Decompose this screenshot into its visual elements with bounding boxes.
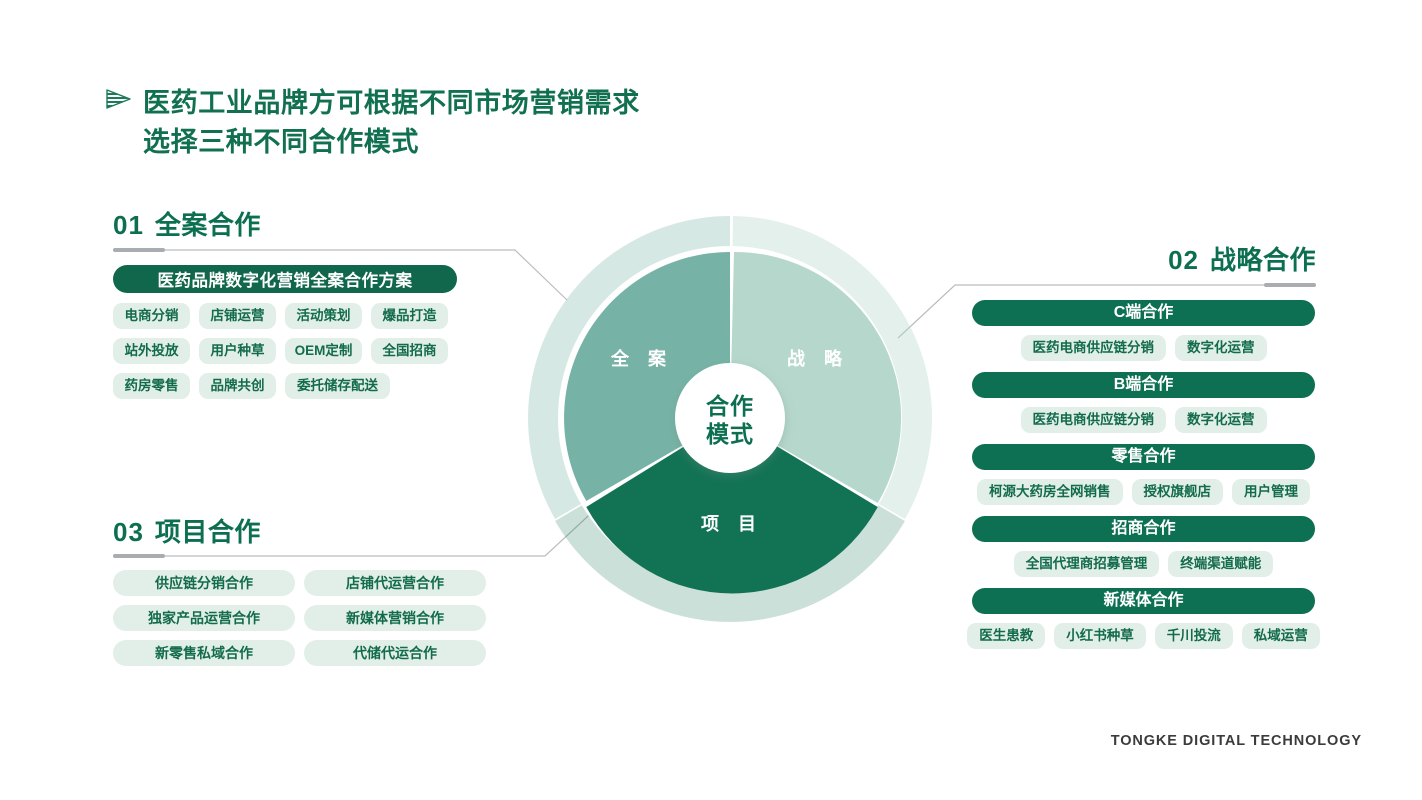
tag-row: 供应链分销合作 店铺代运营合作 (113, 570, 486, 596)
tag-row: 全国代理商招募管理 终端渠道赋能 (972, 551, 1315, 577)
tag-row: 医药电商供应链分销 数字化运营 (972, 407, 1315, 433)
section-01-content: 医药品牌数字化营销全案合作方案 电商分销 店铺运营 活动策划 爆品打造 站外投放… (113, 265, 457, 408)
section-01-title: 全案合作 (155, 205, 261, 242)
tag-pill[interactable]: 新媒体营销合作 (304, 605, 486, 631)
group-bar[interactable]: 零售合作 (972, 444, 1315, 470)
slide-title: 医药工业品牌方可根据不同市场营销需求选择三种不同合作模式 (106, 84, 640, 162)
group-bar[interactable]: 招商合作 (972, 516, 1315, 542)
group-bar[interactable]: C端合作 (972, 300, 1315, 326)
section-03-number: 03 (113, 517, 144, 548)
section-02-number: 02 (1168, 245, 1199, 276)
section-02-title: 战略合作 (1210, 240, 1316, 277)
section-header-03: 03 项目合作 (113, 512, 261, 549)
tag-pill[interactable]: 电商分销 (113, 303, 190, 329)
tag-pill[interactable]: 数字化运营 (1175, 335, 1267, 361)
triangle-arrow-icon (106, 89, 132, 114)
slide-canvas: 医药工业品牌方可根据不同市场营销需求选择三种不同合作模式 01 全案合作 03 … (0, 0, 1422, 800)
tag-pill[interactable]: 授权旗舰店 (1132, 479, 1224, 505)
tag-pill[interactable]: 店铺运营 (199, 303, 276, 329)
tag-pill[interactable]: 医药电商供应链分销 (1021, 335, 1167, 361)
tag-row: 医药电商供应链分销 数字化运营 (972, 335, 1315, 361)
tag-pill[interactable]: 私域运营 (1242, 623, 1320, 649)
tag-pill[interactable]: 全国代理商招募管理 (1014, 551, 1160, 577)
tag-pill[interactable]: 医药电商供应链分销 (1021, 407, 1167, 433)
tag-pill[interactable]: 数字化运营 (1175, 407, 1267, 433)
segment-label-full-case: 全 案 (610, 348, 673, 369)
group-bar[interactable]: 新媒体合作 (972, 588, 1315, 614)
tag-pill[interactable]: 站外投放 (113, 338, 190, 364)
segment-label-strategy: 战 略 (787, 348, 849, 369)
tag-pill[interactable]: 独家产品运营合作 (113, 605, 295, 631)
title-line-2: 选择三种不同合作模式 (143, 127, 419, 157)
cooperation-model-donut-chart: 全 案 战 略 项 目 合作 模式 (520, 208, 940, 633)
tag-pill[interactable]: 小红书种草 (1054, 623, 1146, 649)
tag-row: 药房零售 品牌共创 委托储存配送 (113, 373, 457, 399)
tag-pill[interactable]: 千川投流 (1155, 623, 1233, 649)
tag-row: 电商分销 店铺运营 活动策划 爆品打造 (113, 303, 457, 329)
tag-pill[interactable]: 代储代运合作 (304, 640, 486, 666)
tag-pill[interactable]: 全国招商 (371, 338, 448, 364)
section-03-title: 项目合作 (155, 512, 261, 549)
tag-pill[interactable]: 委托储存配送 (285, 373, 390, 399)
strategy-group: 新媒体合作 医生患教 小红书种草 千川投流 私域运营 (972, 588, 1315, 649)
tag-pill[interactable]: 药房零售 (113, 373, 190, 399)
tag-pill[interactable]: 店铺代运营合作 (304, 570, 486, 596)
tag-pill[interactable]: 爆品打造 (371, 303, 448, 329)
section-01-number: 01 (113, 210, 144, 241)
strategy-group: 招商合作 全国代理商招募管理 终端渠道赋能 (972, 516, 1315, 577)
tag-pill[interactable]: OEM定制 (285, 338, 362, 364)
tag-pill[interactable]: 柯源大药房全网销售 (977, 479, 1123, 505)
hub-label-line-2: 模式 (706, 421, 754, 447)
tag-row: 新零售私域合作 代储代运合作 (113, 640, 486, 666)
strategy-group: B端合作 医药电商供应链分销 数字化运营 (972, 372, 1315, 433)
group-bar[interactable]: B端合作 (972, 372, 1315, 398)
tag-row: 柯源大药房全网销售 授权旗舰店 用户管理 (972, 479, 1315, 505)
section-01-rule (113, 248, 165, 252)
section-header-02: 02 战略合作 (1168, 240, 1316, 277)
tag-row: 站外投放 用户种草 OEM定制 全国招商 (113, 338, 457, 364)
title-text: 医药工业品牌方可根据不同市场营销需求选择三种不同合作模式 (143, 84, 640, 162)
tag-row: 独家产品运营合作 新媒体营销合作 (113, 605, 486, 631)
tag-pill[interactable]: 用户种草 (199, 338, 276, 364)
section-01-banner[interactable]: 医药品牌数字化营销全案合作方案 (113, 265, 457, 293)
title-line-1: 医药工业品牌方可根据不同市场营销需求 (143, 88, 640, 118)
tag-pill[interactable]: 供应链分销合作 (113, 570, 295, 596)
tag-pill[interactable]: 新零售私域合作 (113, 640, 295, 666)
segment-label-project: 项 目 (701, 514, 763, 534)
strategy-group: 零售合作 柯源大药房全网销售 授权旗舰店 用户管理 (972, 444, 1315, 505)
section-02-content: C端合作 医药电商供应链分销 数字化运营 B端合作 医药电商供应链分销 数字化运… (972, 300, 1315, 660)
tag-pill[interactable]: 品牌共创 (199, 373, 276, 399)
hub-label-line-1: 合作 (706, 393, 754, 419)
section-02-rule (1264, 283, 1316, 287)
section-header-01: 01 全案合作 (113, 205, 261, 242)
tag-row: 医生患教 小红书种草 千川投流 私域运营 (972, 623, 1315, 649)
section-03-content: 供应链分销合作 店铺代运营合作 独家产品运营合作 新媒体营销合作 新零售私域合作… (113, 570, 486, 675)
tag-pill[interactable]: 活动策划 (285, 303, 362, 329)
section-03-rule (113, 554, 165, 558)
tag-pill[interactable]: 医生患教 (967, 623, 1045, 649)
strategy-group: C端合作 医药电商供应链分销 数字化运营 (972, 300, 1315, 361)
tag-pill[interactable]: 用户管理 (1232, 479, 1310, 505)
tag-pill[interactable]: 终端渠道赋能 (1168, 551, 1273, 577)
brand-footer: TONGKE DIGITAL TECHNOLOGY (1111, 733, 1362, 749)
